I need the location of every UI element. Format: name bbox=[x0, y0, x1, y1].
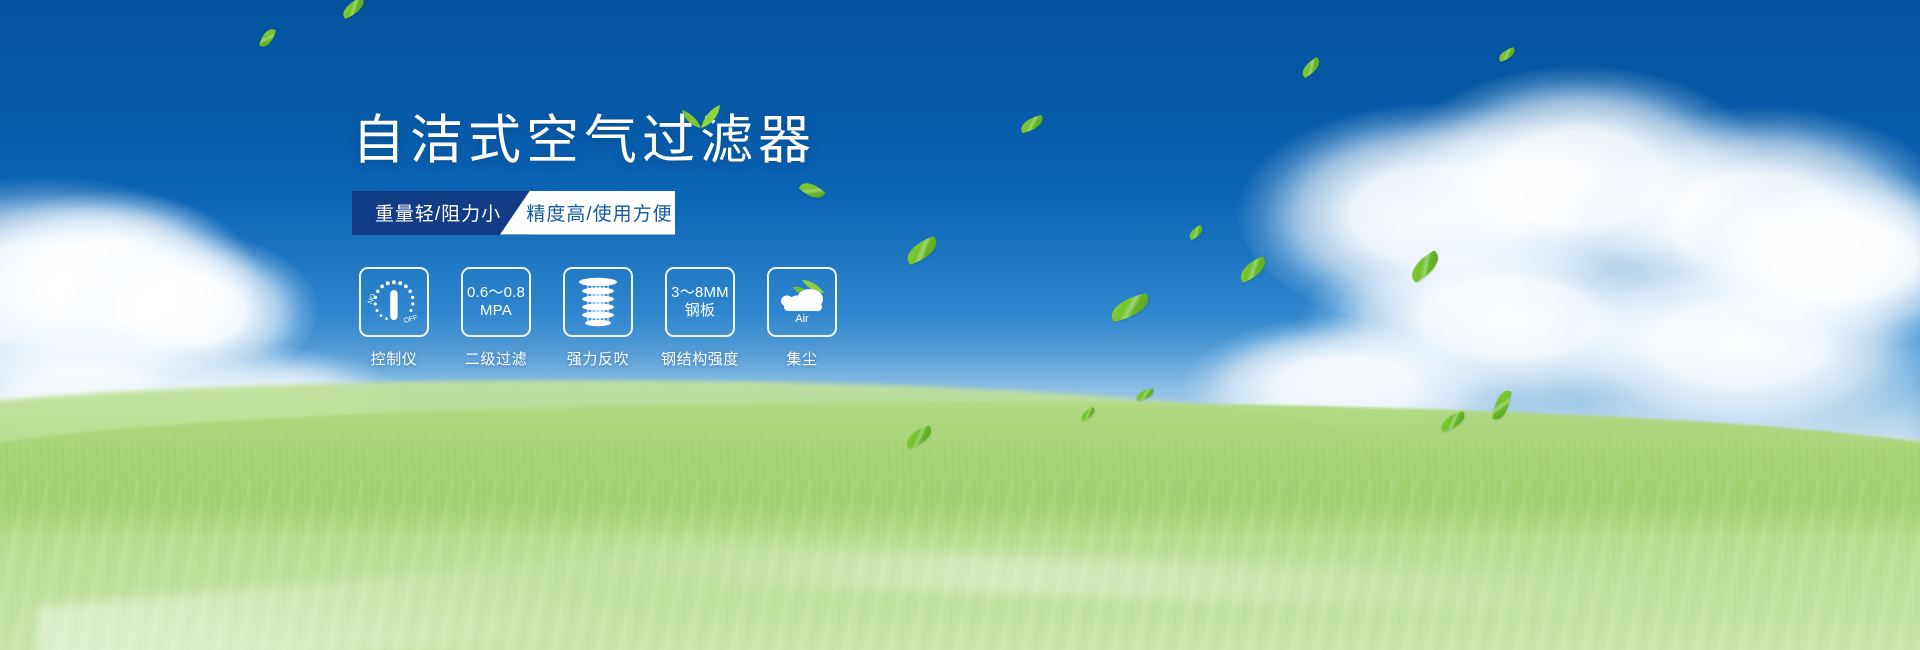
gauge-controller-icon: NO OFF bbox=[364, 273, 424, 331]
filter-cartridge-icon bbox=[571, 274, 625, 330]
feature-item-steel-strength[interactable]: 3～8MM 钢板 钢结构强度 bbox=[664, 267, 736, 369]
feature-box-steel-strength: 3～8MM 钢板 bbox=[665, 267, 735, 337]
feature-label-controller: 控制仪 bbox=[371, 348, 418, 369]
feature-box-dust-collection: Air bbox=[767, 267, 837, 337]
title-sprout-leaf-icon bbox=[681, 102, 721, 128]
feature-label-two-stage-filter: 二级过滤 bbox=[465, 348, 527, 369]
product-hero-banner: 自洁式空气过滤器 重量轻/阻力小 精度高/使用方便 bbox=[0, 0, 1920, 650]
feature-icon-row: NO OFF 控制仪 0.6～0.8 MPA 二级过滤 bbox=[358, 267, 1112, 369]
page-title: 自洁式空气过滤器 bbox=[352, 110, 1112, 173]
banner-content: 自洁式空气过滤器 重量轻/阻力小 精度高/使用方便 bbox=[352, 110, 1112, 369]
gauge-label-off: OFF bbox=[403, 314, 418, 325]
feature-item-two-stage-filter[interactable]: 0.6～0.8 MPA 二级过滤 bbox=[460, 267, 532, 369]
feature-item-dust-collection[interactable]: Air 集尘 bbox=[766, 267, 838, 369]
feature-label-backblow: 强力反吹 bbox=[567, 348, 629, 369]
feature-box-controller: NO OFF bbox=[359, 267, 429, 337]
feature-box-backblow bbox=[563, 267, 633, 337]
badge-lightweight-lowresistance[interactable]: 重量轻/阻力小 bbox=[352, 191, 530, 235]
feature-item-controller[interactable]: NO OFF 控制仪 bbox=[358, 267, 430, 369]
pressure-text-icon: 0.6～0.8 MPA bbox=[467, 284, 525, 319]
cloud-air-icon: Air bbox=[772, 274, 832, 330]
feature-label-dust-collection: 集尘 bbox=[786, 348, 817, 369]
feature-badges: 重量轻/阻力小 精度高/使用方便 bbox=[352, 191, 675, 235]
steel-plate-text-icon: 3～8MM 钢板 bbox=[671, 284, 729, 319]
feature-label-steel-strength: 钢结构强度 bbox=[661, 348, 739, 369]
grass-field bbox=[0, 435, 1920, 650]
cloud-air-label: Air bbox=[795, 313, 809, 325]
feature-box-two-stage-filter: 0.6～0.8 MPA bbox=[461, 267, 531, 337]
badge-precision-easyuse[interactable]: 精度高/使用方便 bbox=[500, 191, 675, 235]
feature-item-backblow[interactable]: 强力反吹 bbox=[562, 267, 634, 369]
